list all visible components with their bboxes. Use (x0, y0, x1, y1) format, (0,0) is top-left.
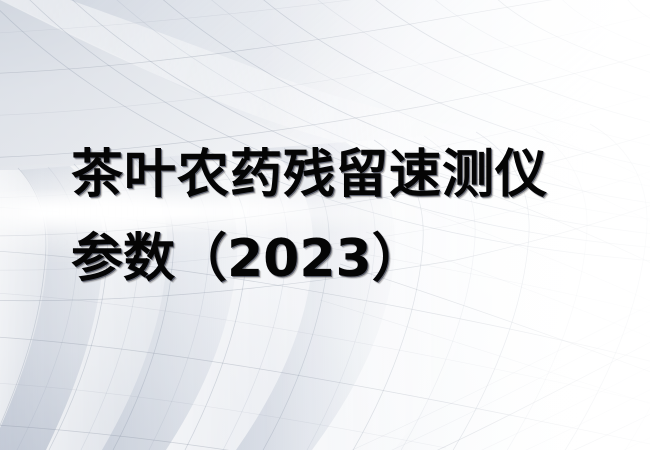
banner-title-line-2: 参数（2023） (71, 217, 591, 301)
banner-title: 茶叶农药残留速测仪 参数（2023） (71, 133, 591, 301)
banner-title-line-1: 茶叶农药残留速测仪 (71, 133, 591, 217)
title-banner: 茶叶农药残留速测仪 参数（2023） (0, 0, 650, 450)
